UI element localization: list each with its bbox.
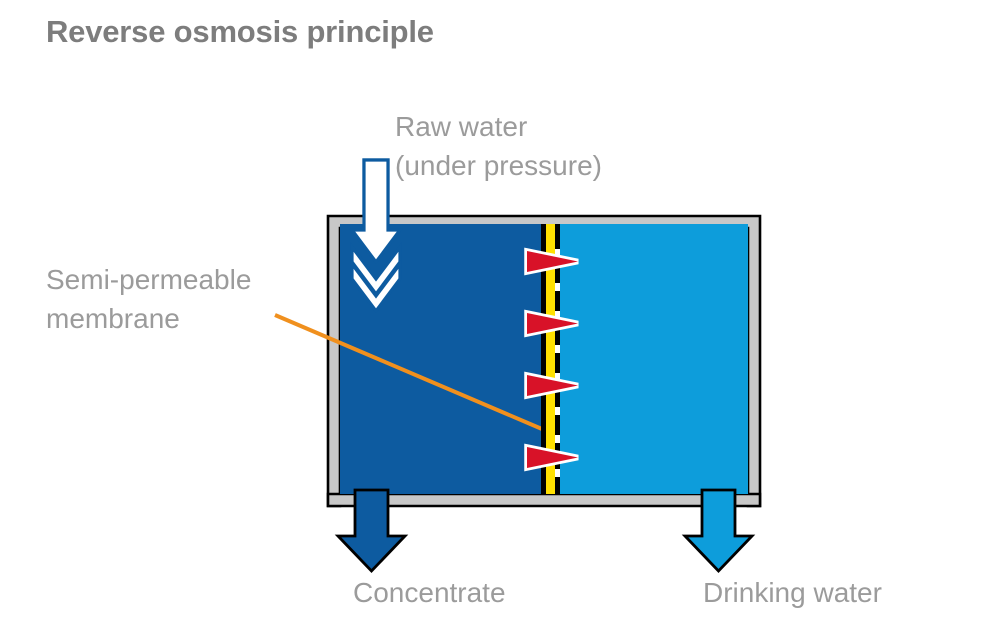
membrane-label-line2: membrane bbox=[46, 303, 180, 334]
tank-floor bbox=[328, 494, 760, 506]
membrane-label-line1: Semi-permeable bbox=[46, 264, 251, 295]
diagram-canvas: Reverse osmosis principle Raw water(unde… bbox=[0, 0, 1000, 640]
raw-water-label-line2: (under pressure) bbox=[395, 150, 602, 181]
drinking-water-chamber-fill bbox=[557, 224, 748, 494]
raw-water-label-line1: Raw water bbox=[395, 111, 527, 142]
page-title: Reverse osmosis principle bbox=[46, 14, 434, 50]
raw-water-inlet-arrow-overlay bbox=[352, 160, 400, 311]
semi-permeable-membrane-label: Semi-permeablemembrane bbox=[46, 260, 251, 338]
raw-water-label: Raw water(under pressure) bbox=[395, 107, 602, 185]
concentrate-label: Concentrate bbox=[353, 577, 506, 609]
concentrate-chamber-fill bbox=[340, 224, 545, 494]
drinking-water-label: Drinking water bbox=[703, 577, 882, 609]
